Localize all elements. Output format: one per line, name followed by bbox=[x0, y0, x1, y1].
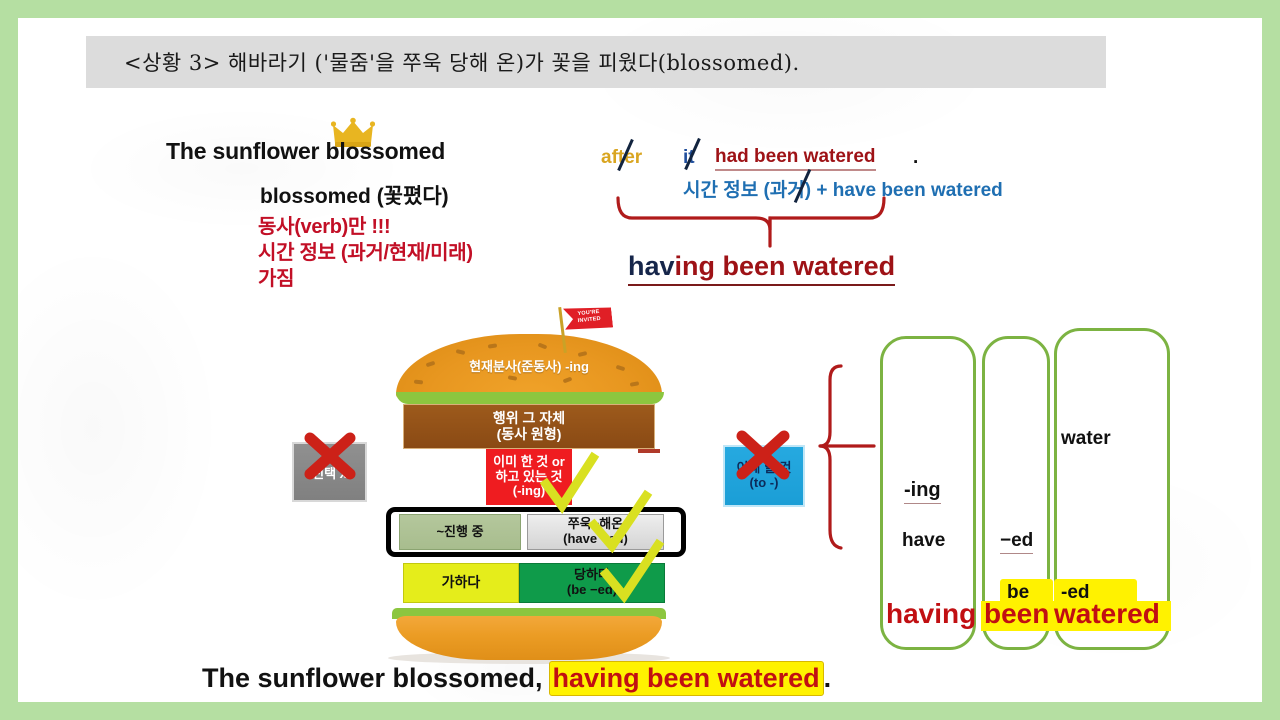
col2-mid-label: −ed bbox=[1000, 530, 1033, 554]
sage-label: ~진행 중 bbox=[436, 525, 483, 540]
burger-layer-passive: 당하다 (be −ed) bbox=[519, 563, 665, 603]
sesame-seed-icon bbox=[414, 380, 423, 385]
burger-bottom-bun bbox=[396, 616, 662, 660]
result-having-been-watered: having been watered bbox=[628, 251, 895, 286]
red-line-2: 하고 있는 것 bbox=[493, 470, 565, 485]
green-line-2: (be −ed) bbox=[567, 583, 617, 598]
bottom-sentence-lead: The sunflower blossomed, bbox=[202, 663, 543, 694]
result-word-been: been bbox=[984, 598, 1049, 630]
blue-box-line-2: (to -) bbox=[736, 476, 791, 491]
red-line-3: (-ing) bbox=[493, 484, 565, 499]
blossomed-gloss-line: blossomed (꽃폈다) bbox=[260, 180, 449, 210]
burger-layer-progressive: ~진행 중 bbox=[399, 514, 521, 550]
result-word-having: having bbox=[886, 598, 976, 630]
slide-title-bar: <상황 3> 해바라기 ('물줌'을 쭈욱 당해 온)가 꽃을 피웠다(blos… bbox=[86, 36, 1106, 88]
burger-top-lettuce bbox=[396, 392, 664, 404]
burger-layer-active: 가하다 bbox=[403, 563, 519, 603]
col1-mid-label: have bbox=[902, 530, 945, 552]
burger-brown-edge bbox=[638, 449, 660, 453]
burger-top-bun-label: 현재분사(준동사) -ing bbox=[418, 356, 640, 375]
yellow-label: 가하다 bbox=[442, 575, 481, 591]
col3-top-label: water bbox=[1061, 428, 1111, 450]
green-line-1: 당하다 bbox=[567, 568, 617, 583]
gray-box-label: 선택 x bbox=[312, 463, 347, 482]
result-prefix: hav bbox=[628, 251, 675, 281]
note-time-info: 시간 정보 (과거/현재/미래) bbox=[258, 236, 473, 265]
burger-layer-ing: 이미 한 것 or 하고 있는 것 (-ing) bbox=[486, 449, 572, 505]
bottom-sentence-period: . bbox=[824, 663, 832, 694]
note-has: 가짐 bbox=[258, 262, 294, 291]
slide-title-text: <상황 3> 해바라기 ('물줌'을 쭈욱 당해 온)가 꽃을 피웠다(blos… bbox=[86, 47, 800, 77]
slide-canvas: <상황 3> 해바라기 ('물줌'을 쭈욱 당해 온)가 꽃을 피웠다(blos… bbox=[18, 18, 1262, 702]
burger-layer-verb-base: 행위 그 자체 (동사 원형) bbox=[403, 404, 655, 449]
result-suffix: ing been watered bbox=[675, 251, 896, 281]
brown-line-2: (동사 원형) bbox=[493, 427, 565, 443]
red-line-1: 이미 한 것 or bbox=[493, 455, 565, 470]
period-after-phrase: . bbox=[913, 147, 918, 169]
bottom-sentence-highlight: having been watered bbox=[549, 661, 824, 696]
time-info-explanation: 시간 정보 (과거) + have been watered bbox=[683, 175, 1003, 202]
sunflower-main-line: The sunflower blossomed bbox=[166, 138, 445, 165]
brown-line-1: 행위 그 자체 bbox=[493, 411, 565, 427]
phrase-had-been-watered: had been watered bbox=[715, 146, 876, 171]
note-verb-only: 동사(verb)만 !!! bbox=[258, 210, 390, 239]
result-word-watered: watered bbox=[1054, 598, 1160, 630]
gray-line-1: 쭈욱~해온 bbox=[563, 517, 628, 532]
blue-exclusion-box: 이제 할 것 (to -) bbox=[723, 445, 805, 507]
bottom-sentence: The sunflower blossomed, having been wat… bbox=[202, 661, 831, 696]
gray-exclusion-box: 선택 x bbox=[292, 442, 367, 502]
burger-layer-perfect: 쭈욱~해온 (have −ed) bbox=[527, 514, 664, 550]
gray-line-2: (have −ed) bbox=[563, 532, 628, 547]
col1-top-label: -ing bbox=[904, 479, 941, 504]
blue-box-line-1: 이제 할 것 bbox=[736, 461, 791, 476]
